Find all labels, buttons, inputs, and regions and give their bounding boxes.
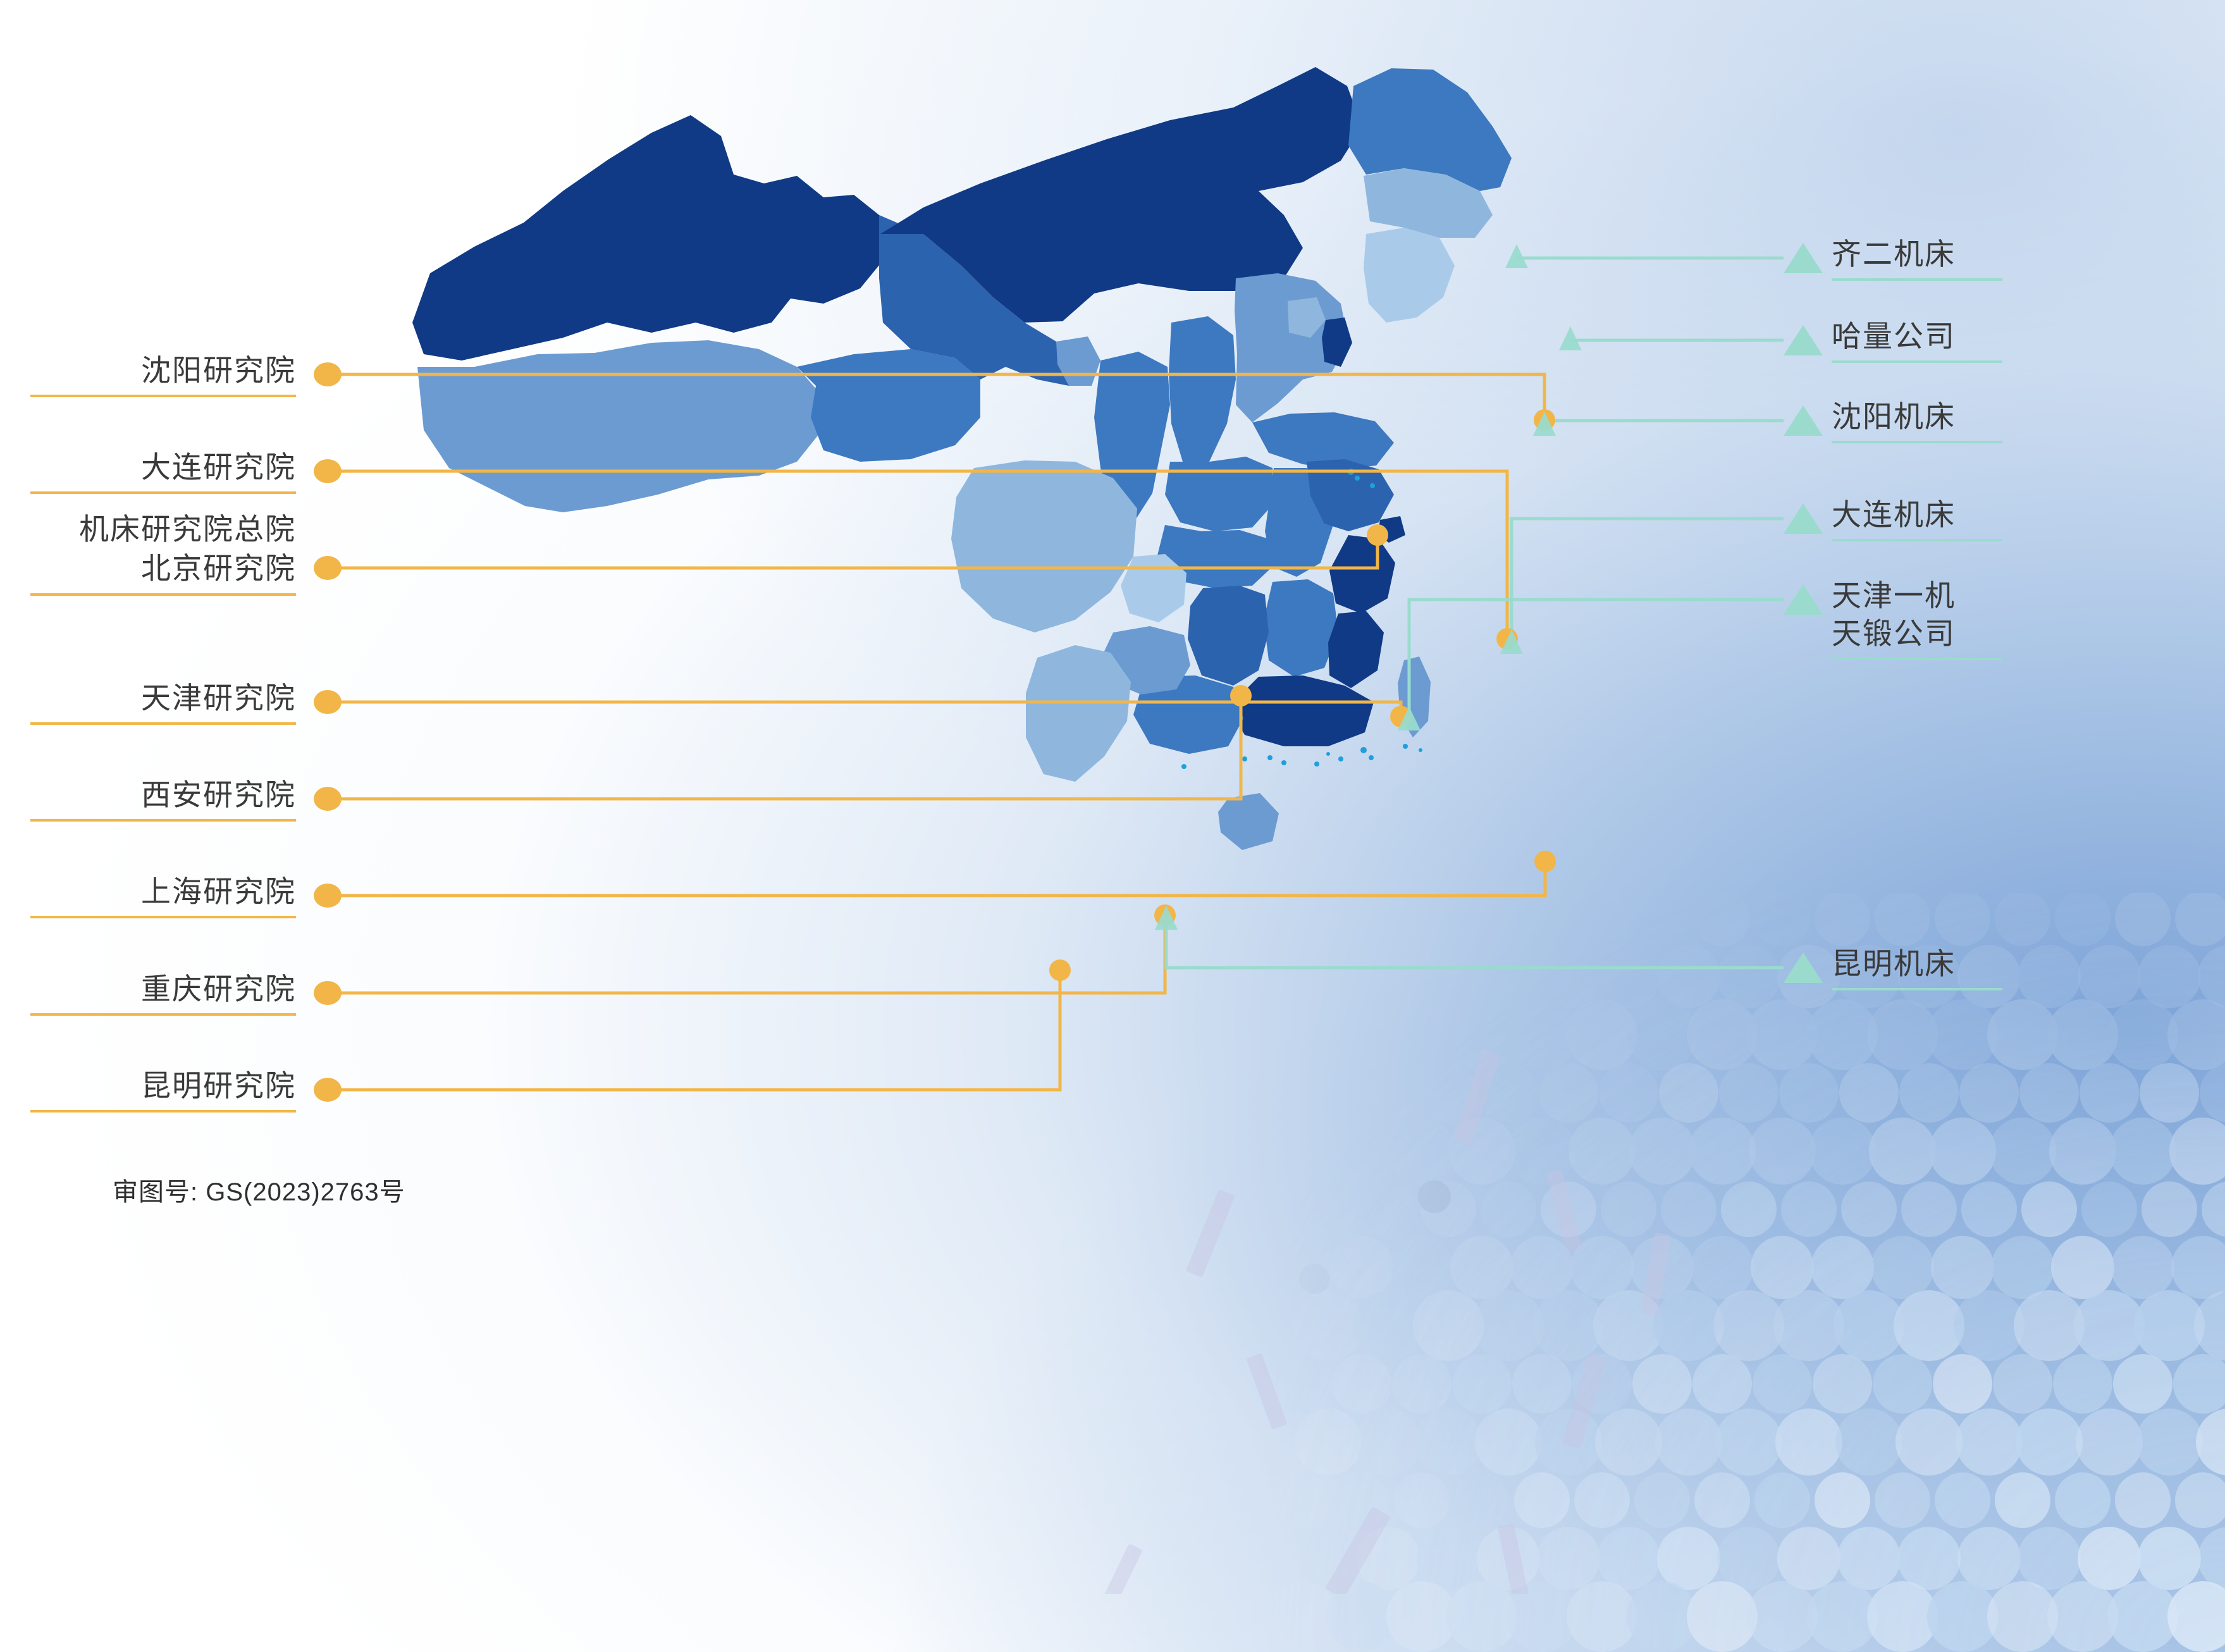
left-label-text: 大连研究院 bbox=[141, 450, 296, 484]
left-label-6[interactable]: 上海研究院 bbox=[30, 873, 296, 918]
right-label-text: 昆明机床 bbox=[1832, 947, 1956, 980]
left-label-text: 机床研究院总院 北京研究院 bbox=[79, 512, 296, 585]
left-label-8[interactable]: 昆明研究院 bbox=[30, 1067, 296, 1113]
left-label-1[interactable]: 沈阳研究院 bbox=[30, 352, 296, 397]
right-label-2[interactable]: 哈量公司 bbox=[1832, 317, 2002, 363]
left-label-3[interactable]: 机床研究院总院 北京研究院 bbox=[30, 510, 296, 596]
right-label-1[interactable]: 齐二机床 bbox=[1832, 235, 2002, 281]
right-label-3[interactable]: 沈阳机床 bbox=[1832, 398, 2002, 443]
china-map bbox=[354, 25, 1556, 1126]
right-label-6[interactable]: 昆明机床 bbox=[1832, 945, 2002, 990]
left-label-text: 天津研究院 bbox=[141, 681, 296, 715]
left-label-4[interactable]: 天津研究院 bbox=[30, 679, 296, 725]
left-label-5[interactable]: 西安研究院 bbox=[30, 776, 296, 822]
right-label-5[interactable]: 天津一机 天锻公司 bbox=[1832, 577, 2002, 660]
right-label-4[interactable]: 大连机床 bbox=[1832, 496, 2002, 541]
right-label-text: 沈阳机床 bbox=[1832, 400, 1956, 433]
left-label-text: 上海研究院 bbox=[141, 875, 296, 908]
right-label-text: 大连机床 bbox=[1832, 498, 1956, 531]
left-label-text: 西安研究院 bbox=[141, 778, 296, 811]
left-label-text: 沈阳研究院 bbox=[141, 354, 296, 387]
map-approval-number: 审图号: GS(2023)2763号 bbox=[113, 1171, 405, 1208]
right-label-text: 齐二机床 bbox=[1832, 237, 1956, 271]
left-label-text: 重庆研究院 bbox=[141, 972, 296, 1006]
left-label-2[interactable]: 大连研究院 bbox=[30, 448, 296, 494]
right-label-text: 天津一机 天锻公司 bbox=[1832, 579, 1956, 650]
left-label-7[interactable]: 重庆研究院 bbox=[30, 970, 296, 1016]
china-map-svg bbox=[354, 25, 1556, 1126]
infographic-canvas: 沈阳研究院大连研究院机床研究院总院 北京研究院天津研究院西安研究院上海研究院重庆… bbox=[0, 0, 2225, 1652]
left-label-text: 昆明研究院 bbox=[141, 1069, 296, 1102]
right-label-text: 哈量公司 bbox=[1832, 319, 1956, 353]
